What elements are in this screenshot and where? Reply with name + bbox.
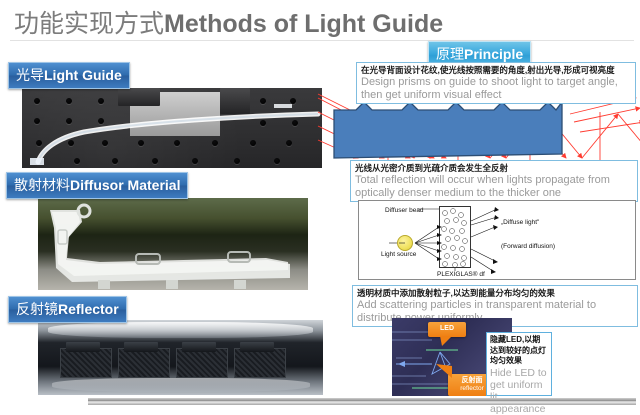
reflector-led-module (66, 342, 100, 352)
label-light-guide-cn: 光导 (16, 67, 44, 83)
light-guide-prism-shape (318, 96, 640, 168)
note-hide-led: 隐藏LED,以期达到较好的点灯均匀效果 Hide LED to get unif… (486, 332, 552, 396)
page-title-cn: 功能实现方式 (14, 10, 164, 38)
bottom-accent-bar (88, 398, 636, 405)
page-title-en: Methods of Light Guide (164, 10, 443, 38)
title-divider (10, 40, 634, 41)
callout-led: LED (428, 322, 466, 337)
reflector-led-module (124, 342, 158, 352)
reflector-led-module (182, 342, 216, 352)
label-reflector-en: Reflector (58, 301, 119, 317)
reflector-led-module (240, 342, 274, 352)
slide-title-bar: 功能实现方式Methods of Light Guide (0, 0, 640, 42)
slide-canvas: 功能实现方式Methods of Light Guide (0, 0, 640, 409)
note-total-reflection-cn: 光线从光密介质到光疏介质会发生全反射 (355, 163, 633, 174)
note-prism-en: Design prisms on guide to shoot light to… (361, 76, 631, 101)
reflector-cell (234, 348, 286, 378)
label-principle-en: Principle (464, 46, 523, 62)
callout-reflector-tail (436, 364, 458, 378)
reflector-chrome-highlight (52, 378, 310, 392)
photo-diffusor-material (38, 198, 308, 290)
note-scattering-cn: 透明材质中添加散射粒子,以达到能量分布均匀的效果 (357, 288, 633, 299)
diffusor-part-shape (38, 198, 308, 290)
label-principle-cn: 原理 (436, 46, 464, 62)
note-hide-led-en: Hide LED to get uniform lit appearance (490, 367, 548, 415)
label-diffusor-material: 散射材料Diffusor Material (6, 172, 188, 199)
label-reflector: 反射镜Reflector (8, 296, 127, 323)
note-prism-cn: 在光导背面设计花纹,使光线按照需要的角度,射出光导,形成可视亮度 (361, 65, 631, 76)
callout-led-label: LED (428, 324, 466, 333)
reflector-cell (60, 348, 112, 378)
photo-reflector (38, 320, 323, 395)
note-hide-led-cn: 隐藏LED,以期达到较好的点灯均匀效果 (490, 335, 548, 367)
note-prism: 在光导背面设计花纹,使光线按照需要的角度,射出光导,形成可视亮度 Design … (356, 62, 636, 104)
label-light-guide: 光导Light Guide (8, 62, 130, 89)
reflector-cell (118, 348, 170, 378)
note-total-reflection-en: Total reflection will occur when lights … (355, 174, 633, 199)
note-total-reflection: 光线从光密介质到光疏介质会发生全反射 Total reflection will… (350, 160, 638, 202)
reflector-chrome-highlight (48, 322, 313, 338)
light-guide-rod (22, 88, 322, 168)
label-light-guide-en: Light Guide (44, 67, 122, 83)
label-diffusor-en: Diffusor Material (70, 177, 180, 193)
callout-led-tail (440, 336, 460, 346)
diffuser-diagram-card: Diffuser bead Light source PLEXIGLAS® df… (358, 200, 636, 280)
label-diffusor-cn: 散射材料 (14, 177, 70, 193)
photo-light-guide (22, 88, 322, 168)
page-title: 功能实现方式Methods of Light Guide (14, 4, 443, 40)
reflector-cell (176, 348, 228, 378)
diffuser-rays (359, 201, 637, 281)
label-reflector-cn: 反射镜 (16, 301, 58, 317)
